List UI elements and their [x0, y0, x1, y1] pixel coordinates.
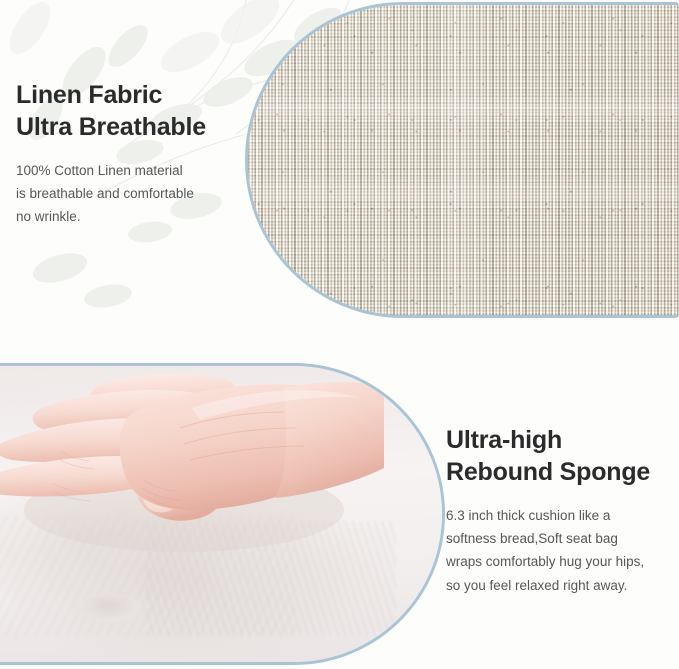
sponge-text-block: Ultra-high Rebound Sponge 6.3 inch thick…: [446, 425, 676, 597]
linen-fiber-specks: [248, 5, 679, 315]
sponge-heading: Ultra-high Rebound Sponge: [446, 425, 676, 488]
linen-body-text: 100% Cotton Linen material is breathable…: [16, 143, 246, 229]
linen-heading: Linen Fabric Ultra Breathable: [16, 80, 246, 143]
linen-fabric-image-panel: [245, 2, 679, 318]
hand-pressing-foam-icon: [0, 363, 384, 580]
linen-text-block: Linen Fabric Ultra Breathable 100% Cotto…: [16, 80, 246, 229]
sponge-body-text: 6.3 inch thick cushion like a softness b…: [446, 488, 676, 597]
product-feature-graphic: Linen Fabric Ultra Breathable 100% Cotto…: [0, 0, 679, 669]
foam-dimple: [74, 594, 144, 624]
sponge-image-panel: [0, 363, 445, 665]
